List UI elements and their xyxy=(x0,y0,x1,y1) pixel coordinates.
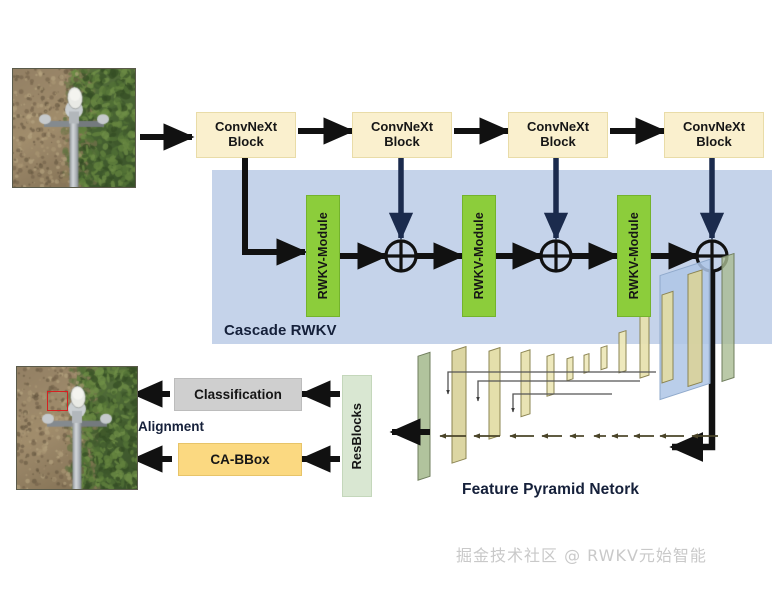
convnext-block-1-line2: Block xyxy=(215,135,277,150)
fpn-plane-7 xyxy=(584,354,589,374)
convnext-block-4[interactable]: ConvNeXt Block xyxy=(664,112,764,158)
convnext-block-3[interactable]: ConvNeXt Block xyxy=(508,112,608,158)
rwkv-module-3[interactable]: RWKV-Module xyxy=(617,195,651,317)
convnext-block-4-line2: Block xyxy=(683,135,745,150)
alignment-label: Alignment xyxy=(138,419,204,434)
add-1 xyxy=(386,241,416,271)
cascade-region-label: Cascade RWKV xyxy=(224,322,337,339)
watermark: 掘金技术社区 @ RWKV元始智能 xyxy=(456,542,707,566)
convnext-block-2[interactable]: ConvNeXt Block xyxy=(352,112,452,158)
input-image xyxy=(12,68,136,188)
fpn-skip-2 xyxy=(478,381,640,401)
resblocks-label: ResBlocks xyxy=(350,403,365,469)
add-2 xyxy=(541,241,571,271)
fpn-plane-5 xyxy=(547,354,554,396)
convnext-block-3-line1: ConvNeXt xyxy=(527,120,589,135)
convnext-block-2-line1: ConvNeXt xyxy=(371,120,433,135)
classification-head[interactable]: Classification xyxy=(174,378,302,411)
fpn-plane-9 xyxy=(619,331,626,373)
rwkv-module-1[interactable]: RWKV-Module xyxy=(306,195,340,317)
classification-label: Classification xyxy=(194,387,282,403)
fpn-caption: Feature Pyramid Netork xyxy=(462,481,639,499)
convnext-block-2-line2: Block xyxy=(371,135,433,150)
fpn-plane-2 xyxy=(452,347,466,464)
convnext-block-4-line1: ConvNeXt xyxy=(683,120,745,135)
diagram-canvas: ConvNeXt Block ConvNeXt Block ConvNeXt B… xyxy=(0,0,780,590)
fpn-plane-6 xyxy=(567,357,573,381)
bbox-annotation xyxy=(47,391,68,411)
fpn-plane-13 xyxy=(722,254,734,382)
convnext-block-1-line1: ConvNeXt xyxy=(215,120,277,135)
fpn-plane-4 xyxy=(521,350,530,417)
ca-bbox-head[interactable]: CA-BBox xyxy=(178,443,302,476)
rwkv-module-2[interactable]: RWKV-Module xyxy=(462,195,496,317)
fpn-plane-1 xyxy=(418,352,430,480)
output-image-canvas xyxy=(17,367,137,489)
fpn-plane-8 xyxy=(601,346,607,370)
convnext-block-1[interactable]: ConvNeXt Block xyxy=(196,112,296,158)
fpn-plane-3 xyxy=(489,348,500,440)
output-image xyxy=(16,366,138,490)
fpn-plane-11 xyxy=(662,291,673,383)
input-image-canvas xyxy=(13,69,135,187)
fpn-plane-12 xyxy=(688,270,702,387)
ca-bbox-label: CA-BBox xyxy=(210,452,269,468)
fpn-plane-10 xyxy=(640,311,649,378)
rwkv-module-1-label: RWKV-Module xyxy=(316,212,330,299)
convnext-block-3-line2: Block xyxy=(527,135,589,150)
rwkv-module-3-label: RWKV-Module xyxy=(627,212,641,299)
rwkv-module-2-label: RWKV-Module xyxy=(472,212,486,299)
resblocks[interactable]: ResBlocks xyxy=(342,375,372,497)
